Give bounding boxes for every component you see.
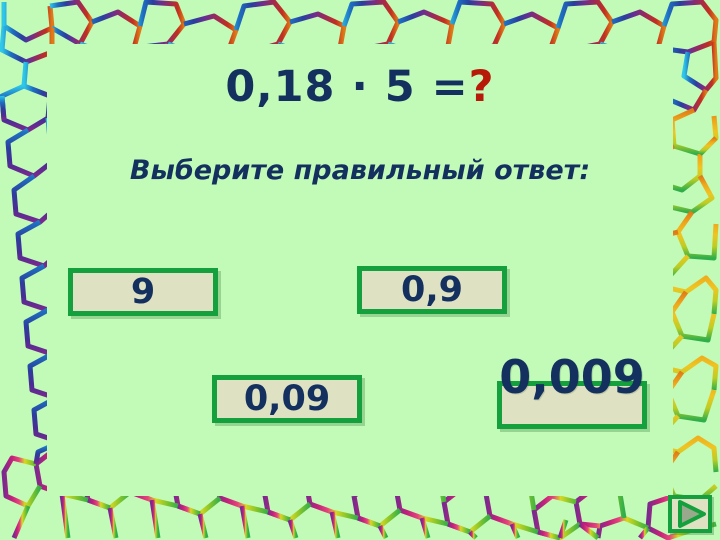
- play-triangle-icon: [672, 499, 708, 529]
- answer-option-4-label: 0,009: [498, 354, 646, 400]
- page-title: 0,18 · 5 =?: [47, 62, 673, 112]
- answer-option-1[interactable]: 9: [68, 268, 218, 316]
- answer-option-4[interactable]: 0,009: [497, 381, 647, 429]
- expression-text: 0,18 · 5 =: [225, 62, 468, 112]
- answer-option-3-label: 0,09: [217, 380, 357, 418]
- slide-canvas: 0,18 · 5 =? Выберите правильный ответ: 9…: [0, 0, 720, 540]
- instruction-text: Выберите правильный ответ:: [47, 154, 673, 188]
- content-panel: 0,18 · 5 =? Выберите правильный ответ: 9…: [47, 44, 673, 496]
- answer-option-2-label: 0,9: [362, 271, 502, 309]
- answer-option-3[interactable]: 0,09: [212, 375, 362, 423]
- answer-option-2[interactable]: 0,9: [357, 266, 507, 314]
- answer-option-1-label: 9: [73, 273, 213, 311]
- unknown-question-mark: ?: [469, 62, 495, 112]
- next-slide-button[interactable]: [668, 495, 712, 533]
